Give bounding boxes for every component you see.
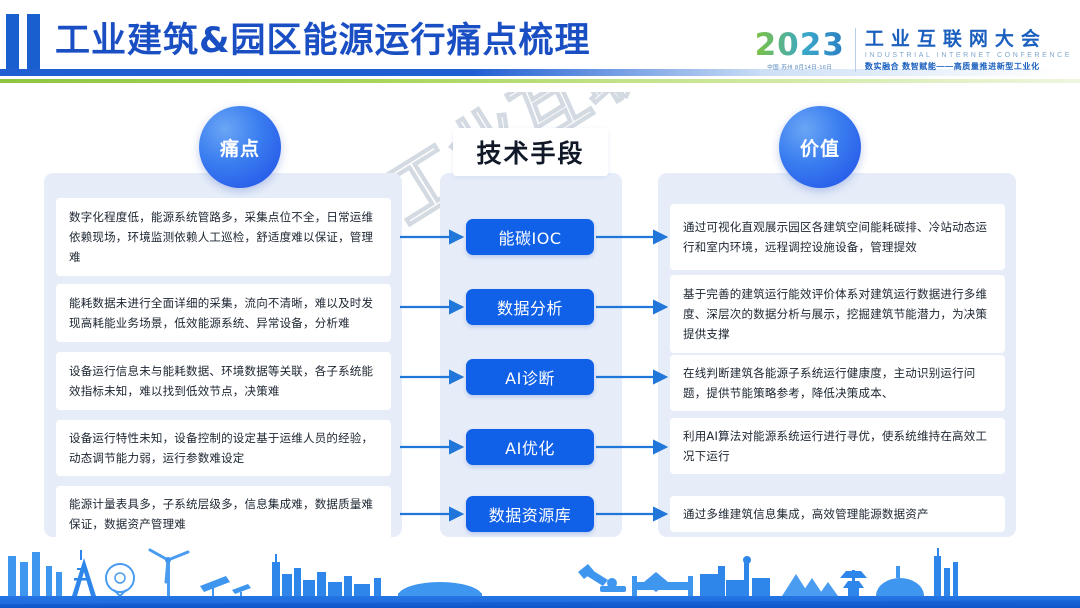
pagoda-icon xyxy=(840,570,867,596)
logo-date: 中国·苏州 8月14日-16日 xyxy=(755,63,845,71)
tech-pill[interactable]: 能碳IOC xyxy=(466,219,594,255)
eiffel-tower-icon xyxy=(72,550,96,596)
column-group-icon xyxy=(8,552,62,596)
pain-column-header: 痛点 xyxy=(199,106,281,188)
logo-slogan: 数实融合 数智赋能——高质量推进新型工业化 xyxy=(865,61,1072,72)
value-card: 通过可视化直观展示园区各建筑空间能耗碳排、冷站动态运行和室内环境，远程调控设施设… xyxy=(670,204,1005,270)
pain-card: 数字化程度低，能源系统管路多，采集点位不全，日常运维依赖现场，环境监测依赖人工巡… xyxy=(56,198,391,276)
logo-divider xyxy=(855,28,856,72)
value-card: 基于完善的建筑运行能效评价体系对建筑运行数据进行多维度、深层次的数据分析与展示，… xyxy=(670,275,1005,353)
value-column-header: 价值 xyxy=(779,106,861,188)
tech-pill[interactable]: AI诊断 xyxy=(466,359,594,395)
diagram-canvas: 痛点 价值 技术手段 数字化程度低，能源系统管路多，采集点位不全，日常运维依赖现… xyxy=(0,92,1080,552)
value-card: 在线判断建筑各能源子系统运行健康度，主动识别运行问题，提供节能策略参考，降低决策… xyxy=(670,355,1005,411)
pain-card: 能耗数据未进行全面详细的采集，流向不清晰，难以及时发现高耗能业务场景，低效能源系… xyxy=(56,284,391,342)
factory-icon xyxy=(700,556,770,596)
mountain-icon xyxy=(782,574,838,596)
page-title: 工业建筑&园区能源运行痛点梳理 xyxy=(55,12,591,63)
logo-name-en: INDUSTRIAL INTERNET CONFERENCE xyxy=(865,50,1072,61)
city-block-icon xyxy=(272,554,381,596)
value-card: 通过多维建筑信息集成，高效管理能源数据资产 xyxy=(670,496,1005,532)
page-header: 工业建筑&园区能源运行痛点梳理 2023 中国·苏州 8月14日-16日 工业互… xyxy=(0,0,1080,92)
logo-year: 2023 xyxy=(755,30,845,61)
header-accent-bar-1 xyxy=(6,14,19,76)
dome-icon xyxy=(876,566,924,596)
header-blue-rule xyxy=(0,69,760,76)
tech-pill[interactable]: 数据分析 xyxy=(466,289,594,325)
wind-turbine-icon xyxy=(150,550,188,596)
bridge-icon xyxy=(398,582,482,596)
tower-icon xyxy=(934,548,958,596)
pain-card: 能源计量表具多，子系统层级多，信息集成难，数据质量难保证，数据资产管理难 xyxy=(56,486,391,542)
pipe-icon xyxy=(632,572,693,596)
robot-arm-icon xyxy=(578,564,626,592)
logo-name-cn: 工业互联网大会 xyxy=(865,29,1072,50)
header-green-rule xyxy=(0,79,1080,83)
tech-pill[interactable]: AI优化 xyxy=(466,429,594,465)
pain-card: 设备运行特性未知，设备控制的设定基于运维人员的经验，动态调节能力弱，运行参数难设… xyxy=(56,420,391,476)
conference-logo: 2023 中国·苏州 8月14日-16日 工业互联网大会 INDUSTRIAL … xyxy=(755,24,1072,76)
solar-panel-icon xyxy=(200,576,251,597)
ferris-wheel-icon xyxy=(106,564,134,596)
tech-pill[interactable]: 数据资源库 xyxy=(466,496,594,532)
logo-year-block: 2023 中国·苏州 8月14日-16日 xyxy=(755,30,855,71)
header-accent-bar-2 xyxy=(27,14,40,76)
pain-card: 设备运行信息未与能耗数据、环境数据等关联，各子系统能效指标未知，难以找到低效节点… xyxy=(56,352,391,410)
tech-column-header: 技术手段 xyxy=(453,128,608,176)
value-card: 利用AI算法对能源系统运行进行寻优，使系统维持在高效工况下运行 xyxy=(670,418,1005,474)
logo-text-block: 工业互联网大会 INDUSTRIAL INTERNET CONFERENCE 数… xyxy=(865,29,1072,72)
